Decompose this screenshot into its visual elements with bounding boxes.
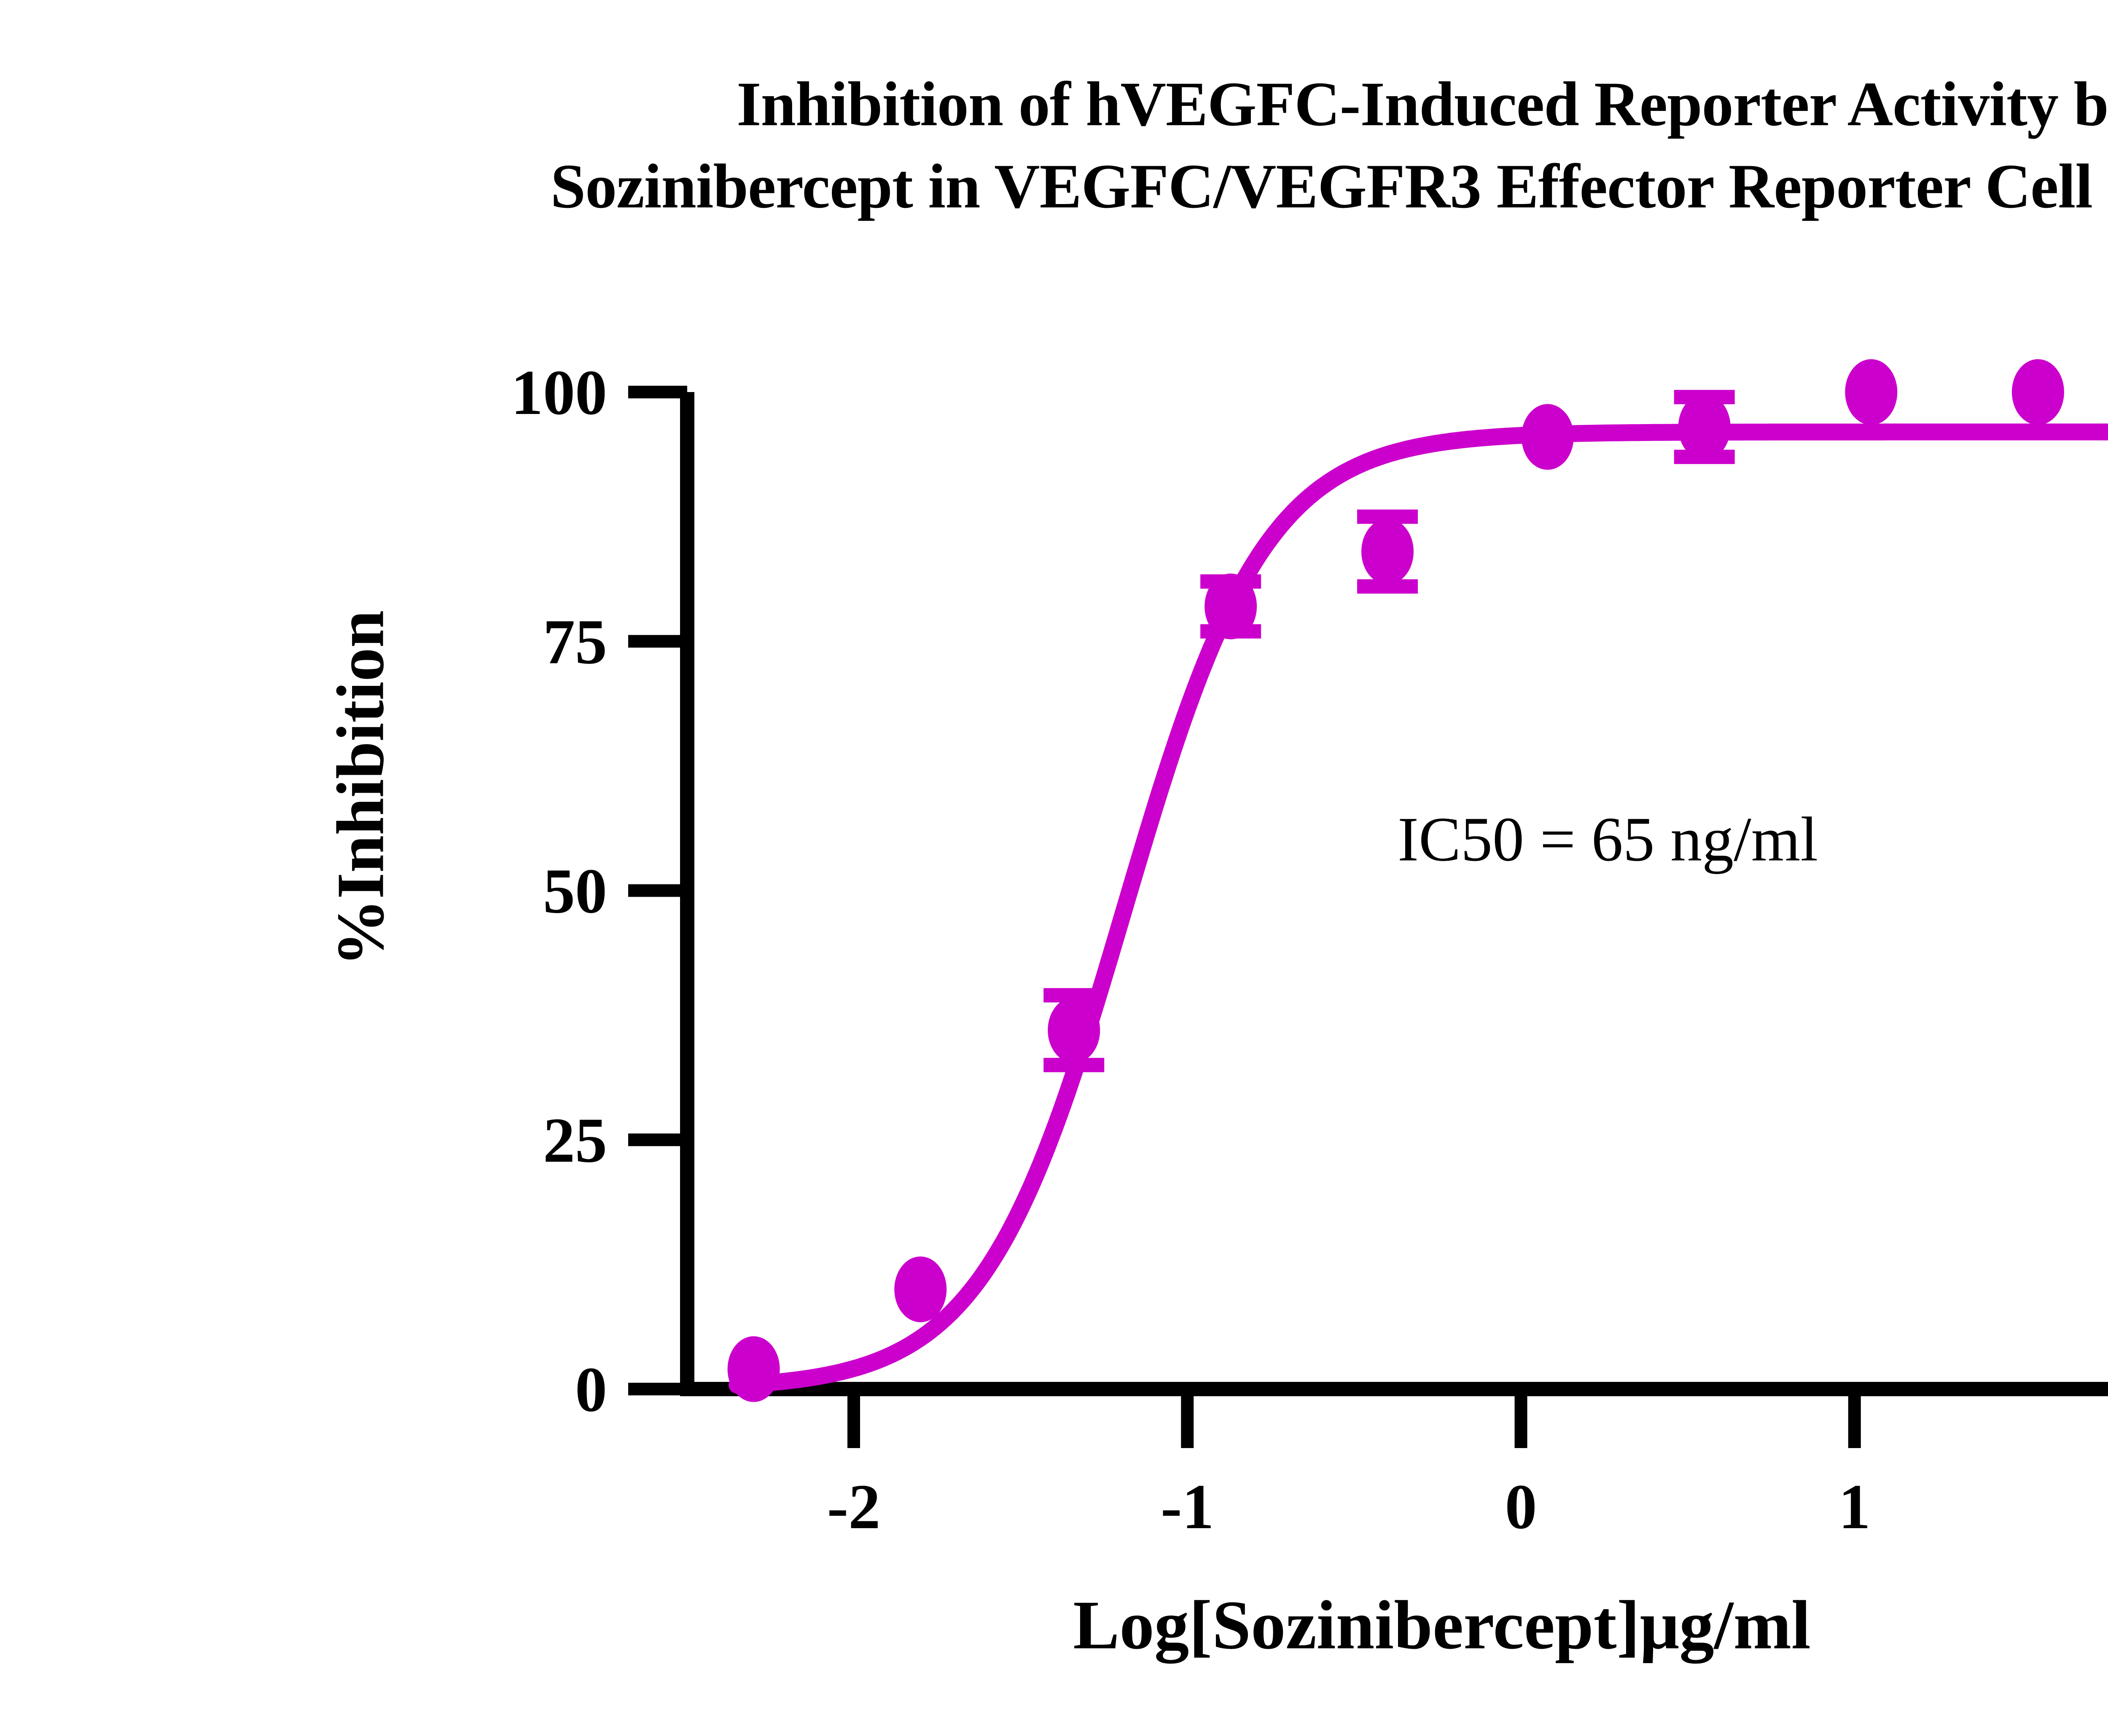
y-tick-marks — [628, 392, 687, 1389]
data-point — [2012, 359, 2064, 425]
x-tick-label: 1 — [1839, 1471, 1871, 1542]
chart-plot-area: 0255075100 -2-1012 — [0, 0, 2108, 1736]
x-tick-label: 0 — [1505, 1471, 1537, 1542]
y-tick-labels: 0255075100 — [511, 357, 607, 1425]
data-point — [1048, 997, 1100, 1063]
data-point — [1205, 573, 1257, 639]
y-tick-label: 100 — [511, 357, 607, 428]
y-tick-label: 25 — [543, 1105, 607, 1176]
data-point — [894, 1257, 946, 1322]
error-bars — [1043, 397, 1734, 1065]
data-point — [728, 1336, 780, 1402]
data-point — [1361, 519, 1414, 584]
data-point — [1845, 359, 1897, 425]
y-tick-label: 0 — [575, 1354, 607, 1425]
x-tick-label: -1 — [1161, 1471, 1214, 1542]
x-tick-marks — [854, 1389, 2108, 1448]
y-tick-label: 75 — [543, 606, 607, 677]
data-point — [1522, 404, 1574, 470]
data-point — [1678, 394, 1731, 460]
x-tick-labels: -2-1012 — [827, 1471, 2108, 1542]
x-tick-label: -2 — [827, 1471, 881, 1542]
fit-curve — [737, 432, 2108, 1385]
y-tick-label: 50 — [543, 856, 607, 927]
